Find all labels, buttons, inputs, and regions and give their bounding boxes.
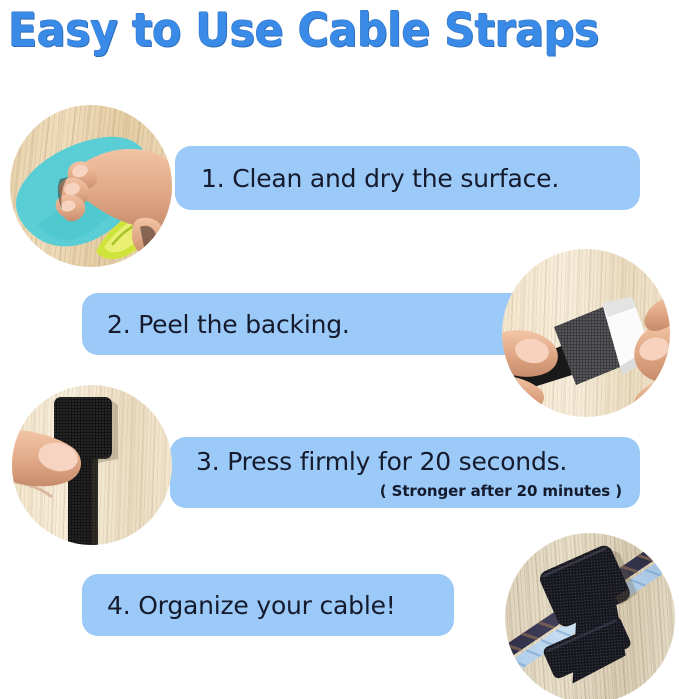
step-2-label: 2. Peel the backing. — [107, 310, 350, 339]
step-3-label: 3. Press firmly for 20 seconds. — [196, 447, 567, 476]
step-1-label: 1. Clean and dry the surface. — [201, 164, 559, 193]
photo-peel-backing — [502, 249, 670, 417]
right-finger-2 — [644, 293, 670, 331]
clean-surface-illustration — [10, 105, 172, 267]
photo-organize-cable — [505, 533, 675, 699]
peel-backing-illustration — [502, 249, 670, 417]
organize-cable-illustration — [505, 533, 675, 699]
page-title: Easy to Use Cable Straps — [8, 2, 622, 60]
step-3-sublabel: ( Stronger after 20 minutes ) — [380, 482, 622, 500]
photo-clean-surface — [10, 105, 172, 267]
step-4-text-bar: 4. Organize your cable! — [82, 574, 454, 636]
step-2-text-bar: 2. Peel the backing. — [82, 293, 550, 355]
step-4-label: 4. Organize your cable! — [107, 591, 396, 620]
product-instruction-infographic: Easy to Use Cable Straps 1. Clean and dr… — [0, 0, 679, 699]
step-3-text-bar: 3. Press firmly for 20 seconds. ( Strong… — [170, 437, 640, 508]
right-finger-1 — [634, 377, 670, 417]
photo-press-firmly — [12, 385, 172, 545]
press-firmly-illustration — [12, 385, 172, 545]
step-1-text-bar: 1. Clean and dry the surface. — [175, 146, 640, 210]
